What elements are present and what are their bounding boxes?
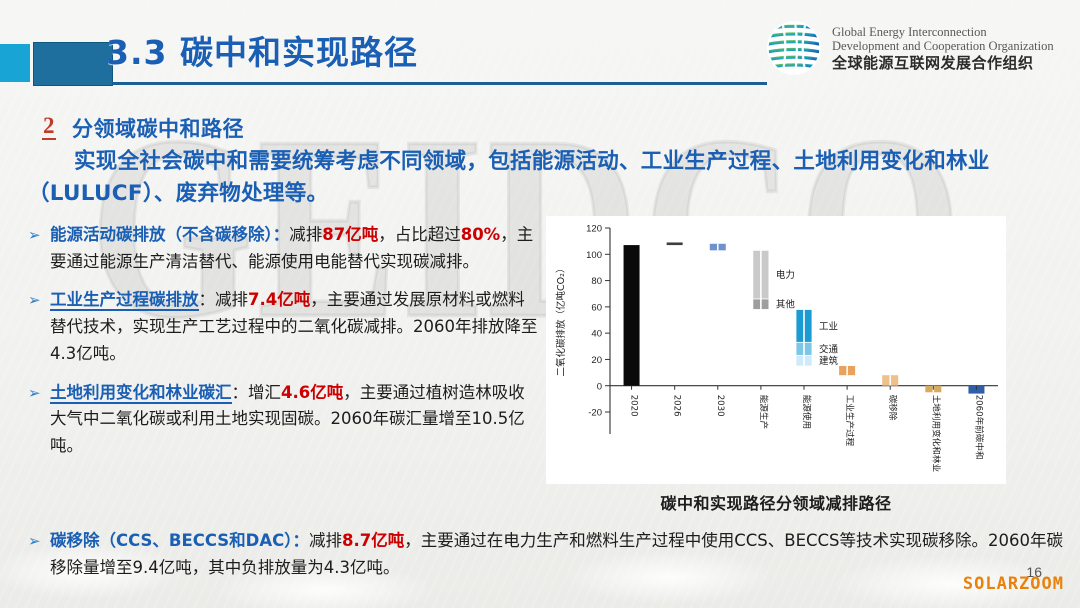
section-number-mark: 2 <box>42 114 56 140</box>
arrow-bullet-icon: ➢ <box>28 288 41 312</box>
list-item-wide: ➢ 碳移除（CCS、BECCS和DAC）：减排8.7亿吨，主要通过在电力生产和燃… <box>26 528 1076 581</box>
bullet-text-1: 减排 <box>309 531 342 550</box>
svg-text:40: 40 <box>591 329 602 340</box>
header-accent-square-light <box>0 44 30 82</box>
svg-text:100: 100 <box>586 250 602 261</box>
chart-panel: -20020406080100120二氧化碳排放（亿吨CO₂）202020262… <box>546 216 1006 484</box>
bullet-title: 工业生产过程碳排放 <box>50 290 199 311</box>
svg-text:其他: 其他 <box>776 299 796 311</box>
arrow-bullet-icon: ➢ <box>28 381 41 405</box>
bullet-title: 土地利用变化和林业碳汇 <box>50 383 232 404</box>
svg-text:2060年前碳中和: 2060年前碳中和 <box>973 395 985 460</box>
svg-text:电力: 电力 <box>776 269 795 281</box>
list-item: ➢ 能源活动碳排放（不含碳移除）：减排87亿吨，占比超过80%，主要通过能源生产… <box>26 222 538 275</box>
svg-text:2020: 2020 <box>629 395 639 417</box>
bullet-separator: ： <box>293 531 310 550</box>
bullet-highlight-1: 4.6亿吨 <box>281 383 343 402</box>
svg-text:0: 0 <box>597 381 602 392</box>
solarzoom-watermark: SOLARZOOM <box>963 574 1064 594</box>
svg-text:能源使用: 能源使用 <box>801 395 813 429</box>
arrow-bullet-icon: ➢ <box>28 529 41 553</box>
bullet-text-1: 增汇 <box>248 383 281 402</box>
svg-text:二氧化碳排放（亿吨CO₂）: 二氧化碳排放（亿吨CO₂） <box>555 264 567 377</box>
list-item: ➢ 土地利用变化和林业碳汇：增汇4.6亿吨，主要通过植树造林吸收大气中二氧化碳或… <box>26 380 538 460</box>
bullet-separator: ： <box>199 290 216 309</box>
arrow-bullet-icon: ➢ <box>28 223 41 247</box>
list-item: ➢ 工业生产过程碳排放：减排7.4亿吨，主要通过发展原材料或燃料替代技术，实现生… <box>26 287 538 367</box>
logo-english-line2: Development and Cooperation Organization <box>832 39 1054 53</box>
chart-caption: 碳中和实现路径分领域减排路径 <box>546 490 1006 514</box>
svg-text:-20: -20 <box>588 408 602 419</box>
svg-text:建筑: 建筑 <box>819 355 839 367</box>
bullet-highlight-1: 87亿吨 <box>322 225 378 244</box>
bullet-text-1: 减排 <box>215 290 248 309</box>
page-title: 3.3 碳中和实现路径 <box>106 26 418 74</box>
svg-text:工业生产过程: 工业生产过程 <box>844 395 856 447</box>
bullet-title: 能源活动碳排放（不含碳移除） <box>50 225 273 244</box>
svg-text:碳移除: 碳移除 <box>887 395 899 421</box>
logo-chinese-name: 全球能源互联网发展合作组织 <box>832 55 1054 72</box>
svg-text:土地利用变化和林业: 土地利用变化和林业 <box>930 395 942 473</box>
svg-text:2026: 2026 <box>672 395 682 417</box>
svg-text:20: 20 <box>591 355 602 366</box>
svg-text:80: 80 <box>591 276 602 287</box>
logo-english-line1: Global Energy Interconnection <box>832 25 1054 39</box>
bullet-separator: ： <box>273 225 290 244</box>
globe-logo-icon <box>765 19 823 77</box>
header-underline-rule <box>112 82 767 85</box>
section-lead-paragraph: 实现全社会碳中和需要统筹考虑不同领域，包括能源活动、工业生产过程、土地利用变化和… <box>28 146 1050 211</box>
svg-text:交通: 交通 <box>819 343 839 355</box>
svg-text:能源生产: 能源生产 <box>758 395 770 429</box>
bullet-highlight-1: 8.7亿吨 <box>342 531 404 550</box>
bullet-text-2: ，占比超过 <box>378 225 461 244</box>
bullet-list: ➢ 能源活动碳排放（不含碳移除）：减排87亿吨，占比超过80%，主要通过能源生产… <box>26 222 538 472</box>
organization-logo: Global Energy Interconnection Developmen… <box>765 12 1070 84</box>
carbon-neutrality-waterfall-chart: -20020406080100120二氧化碳排放（亿吨CO₂）202020262… <box>546 216 1006 484</box>
bullet-title: 碳移除（CCS、BECCS和DAC） <box>50 531 293 550</box>
bullet-text-1: 减排 <box>289 225 322 244</box>
bullet-separator: ： <box>232 383 249 402</box>
bullet-highlight-2: 80% <box>461 225 501 244</box>
section-sub-heading: 分领域碳中和路径 <box>72 113 244 143</box>
bullet-highlight-1: 7.4亿吨 <box>248 290 310 309</box>
svg-text:120: 120 <box>586 224 602 235</box>
header-accent-square-dark <box>33 42 113 86</box>
svg-text:工业: 工业 <box>819 321 838 332</box>
svg-text:60: 60 <box>591 302 602 313</box>
svg-text:2030: 2030 <box>715 395 725 417</box>
